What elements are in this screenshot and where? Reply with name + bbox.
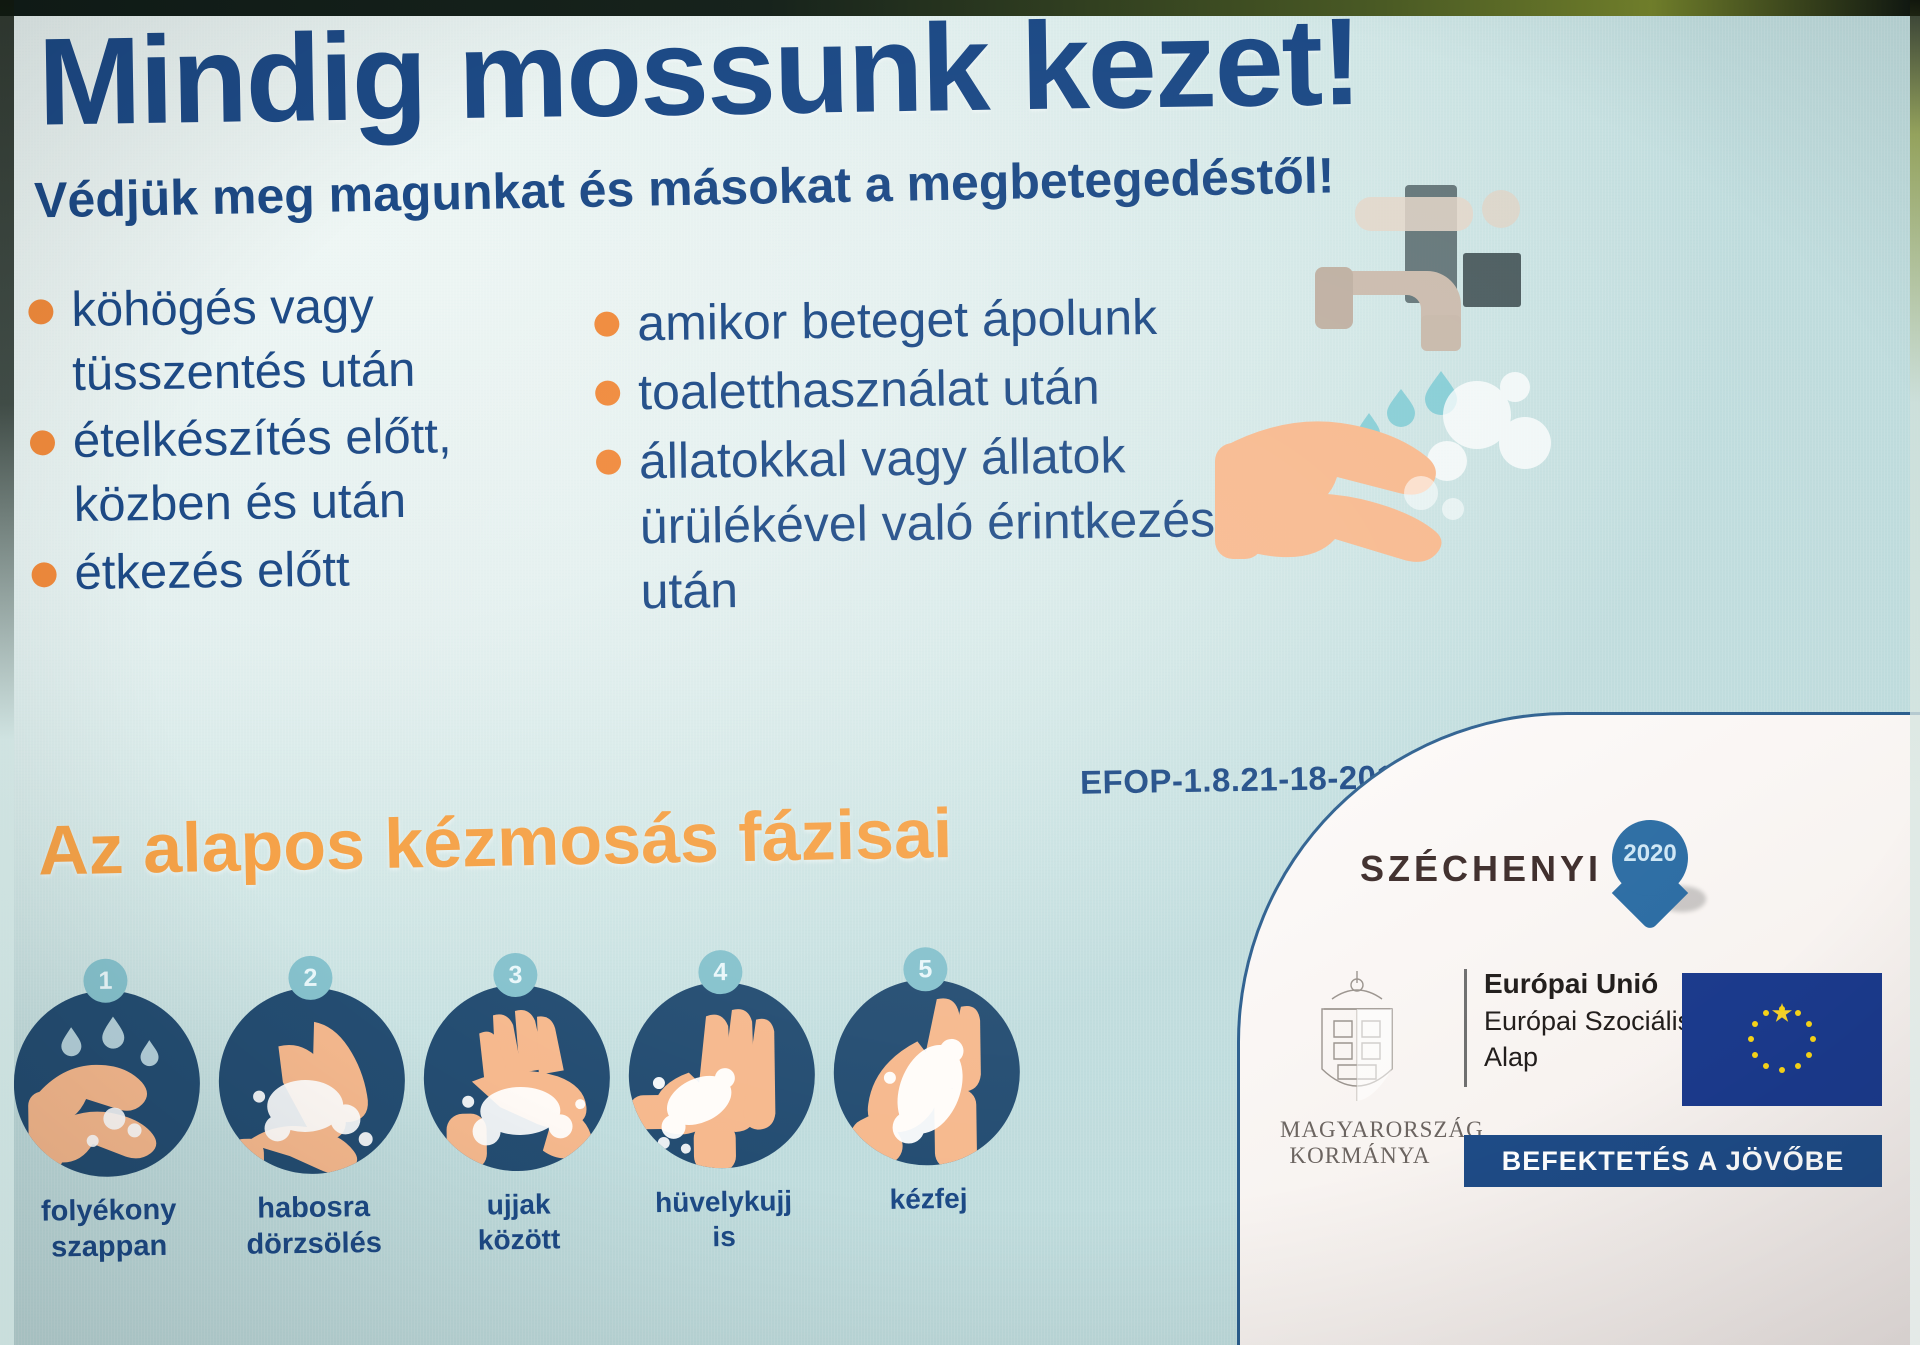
photo-top-edge — [0, 0, 1920, 16]
step-illustration — [423, 984, 612, 1173]
funding-logo-panel: SZÉCHENYI 2020 — [1237, 712, 1920, 1345]
poster-root: Mindig mossunk kezet! Védjük meg magunka… — [0, 0, 1920, 1345]
step-item: 1 — [6, 989, 211, 1342]
photo-left-edge — [0, 0, 14, 1345]
photo-right-edge — [1910, 0, 1920, 1345]
hungary-government-label: MAGYARORSZÁG KORMÁNYA — [1280, 1117, 1440, 1170]
list-item: köhögés vagy tüsszentés után — [28, 273, 600, 407]
investing-in-the-future-banner: BEFEKTETÉS A JÖVŐBE — [1464, 1135, 1882, 1187]
bullet-text: étkezés előtt — [74, 538, 350, 605]
bullet-dot-icon — [31, 562, 56, 587]
divider — [1464, 969, 1467, 1087]
step-item: 3 — [416, 984, 621, 1337]
bullet-text: köhögés vagy tüsszentés után — [71, 273, 600, 407]
eu-line-2: Európai Szociális — [1484, 1003, 1691, 1039]
szechenyi-wordmark: SZÉCHENYI — [1360, 848, 1602, 890]
list-item: állatokkal vagy állatok ürülékével való … — [596, 422, 1218, 625]
bullet-dot-icon — [595, 380, 620, 405]
bullet-text: amikor beteget ápolunk — [637, 285, 1158, 356]
hungary-coat-of-arms-icon — [1292, 965, 1422, 1115]
step-illustration — [833, 978, 1022, 1167]
step-item: 5 — [826, 978, 1031, 1331]
bullet-dot-icon — [28, 299, 53, 324]
phases-section-title: Az alapos kézmosás fázisai — [37, 789, 1138, 890]
szechenyi-2020-logo: SZÉCHENYI 2020 — [1360, 820, 1688, 918]
list-item: ételkészítés előtt, közben és után — [30, 404, 602, 538]
step-label: habosra dörzsölés — [213, 1188, 414, 1263]
step-illustration — [218, 987, 407, 1176]
bullet-dot-icon — [594, 311, 619, 336]
bullet-text: állatokkal vagy állatok ürülékével való … — [639, 422, 1218, 624]
step-label: kézfej — [828, 1180, 1028, 1218]
bullet-text: ételkészítés előtt, közben és után — [73, 404, 602, 538]
szechenyi-year: 2020 — [1612, 840, 1688, 868]
step-label: folyékony szappan — [8, 1191, 209, 1266]
bullet-list-right: amikor beteget ápolunk toaletthasználat … — [594, 284, 1218, 629]
map-pin-icon: 2020 — [1612, 820, 1688, 918]
eu-line-3: Alap — [1484, 1039, 1691, 1075]
faucet-washing-hands-illustration — [1215, 175, 1595, 595]
eu-fund-text: Európai Unió Európai Szociális Alap — [1484, 965, 1691, 1076]
handwashing-steps: 1 — [6, 978, 1031, 1342]
bullet-list-left: köhögés vagy tüsszentés után ételkészíté… — [28, 273, 602, 610]
step-illustration — [628, 981, 817, 1170]
list-item: étkezés előtt — [31, 535, 602, 606]
step-label: hüvelykujj is — [623, 1183, 824, 1256]
list-item: toaletthasználat után — [595, 353, 1216, 426]
step-item: 2 — [211, 986, 416, 1339]
step-item: 4 — [621, 981, 826, 1334]
step-label: ujjak között — [418, 1186, 619, 1259]
list-item: amikor beteget ápolunk — [594, 284, 1215, 357]
eu-line-1: Európai Unió — [1484, 965, 1691, 1003]
poster-title: Mindig mossunk kezet! — [37, 0, 1519, 146]
bullet-dot-icon — [596, 449, 621, 474]
bullet-dot-icon — [30, 431, 55, 456]
step-illustration — [13, 989, 202, 1178]
european-union-flag-icon — [1682, 973, 1882, 1106]
bullet-text: toaletthasználat után — [638, 355, 1100, 426]
